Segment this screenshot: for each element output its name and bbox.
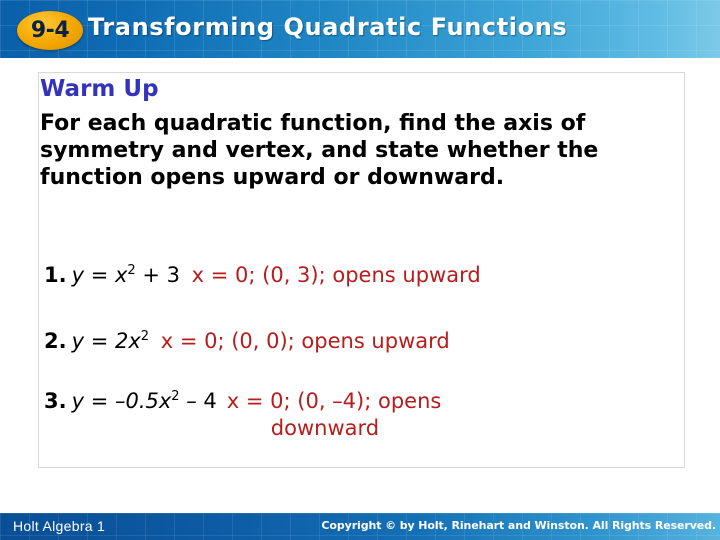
warmup-instructions-text: For each quadratic function, find the ax…: [40, 110, 670, 191]
problem-equation-exponent: 2: [141, 329, 149, 344]
problem-equation-exponent: 2: [171, 389, 179, 404]
footer-book-title: Holt Algebra 1: [13, 518, 105, 534]
problem-answer: x = 0; (0, 3); opens upward: [192, 263, 481, 287]
problem-equation-prefix: y = x: [72, 263, 128, 287]
problem-equation: y = x2 + 3: [72, 263, 180, 287]
problem-equation-exponent: 2: [127, 263, 135, 278]
problem-number: 1.: [44, 263, 67, 287]
problem-number: 3.: [44, 389, 67, 413]
problem-equation-prefix: y = –0.5x: [72, 389, 172, 413]
problem-row: 2.y = 2x2 x = 0; (0, 0); opens upward: [44, 328, 684, 355]
problem-row: 3.y = –0.5x2 – 4x = 0; (0, –4); opensdow…: [44, 388, 684, 442]
page-title: Transforming Quadratic Functions: [88, 13, 567, 41]
problem-equation-prefix: y = 2x: [72, 329, 141, 353]
problem-equation: y = 2x2: [72, 329, 149, 353]
lesson-number-badge: 9-4: [17, 11, 83, 50]
lesson-header-bar: 9-4 Transforming Quadratic Functions: [0, 0, 720, 58]
problem-row: 1.y = x2 + 3 x = 0; (0, 3); opens upward: [44, 262, 684, 289]
warmup-heading: Warm Up: [40, 78, 159, 101]
lesson-number-label: 9-4: [31, 20, 69, 42]
footer-copyright-notice: Copyright © by Holt, Rinehart and Winsto…: [321, 519, 716, 532]
problem-equation-group: 3.y = –0.5x2 – 4: [44, 388, 217, 415]
problem-equation-suffix: – 4: [180, 389, 217, 413]
problem-equation: y = –0.5x2 – 4: [72, 389, 217, 413]
problem-answer: x = 0; (0, 0); opens upward: [161, 329, 450, 353]
problem-number: 2.: [44, 329, 67, 353]
problem-answer-line-1: x = 0; (0, –4); opens: [227, 389, 442, 413]
problem-answer-block: x = 0; (0, –4); opensdownward: [227, 388, 527, 442]
problem-answer-line-2: downward: [271, 415, 527, 442]
footer-bar: Holt Algebra 1 Copyright © by Holt, Rine…: [0, 513, 720, 540]
problem-equation-suffix: + 3: [136, 263, 180, 287]
